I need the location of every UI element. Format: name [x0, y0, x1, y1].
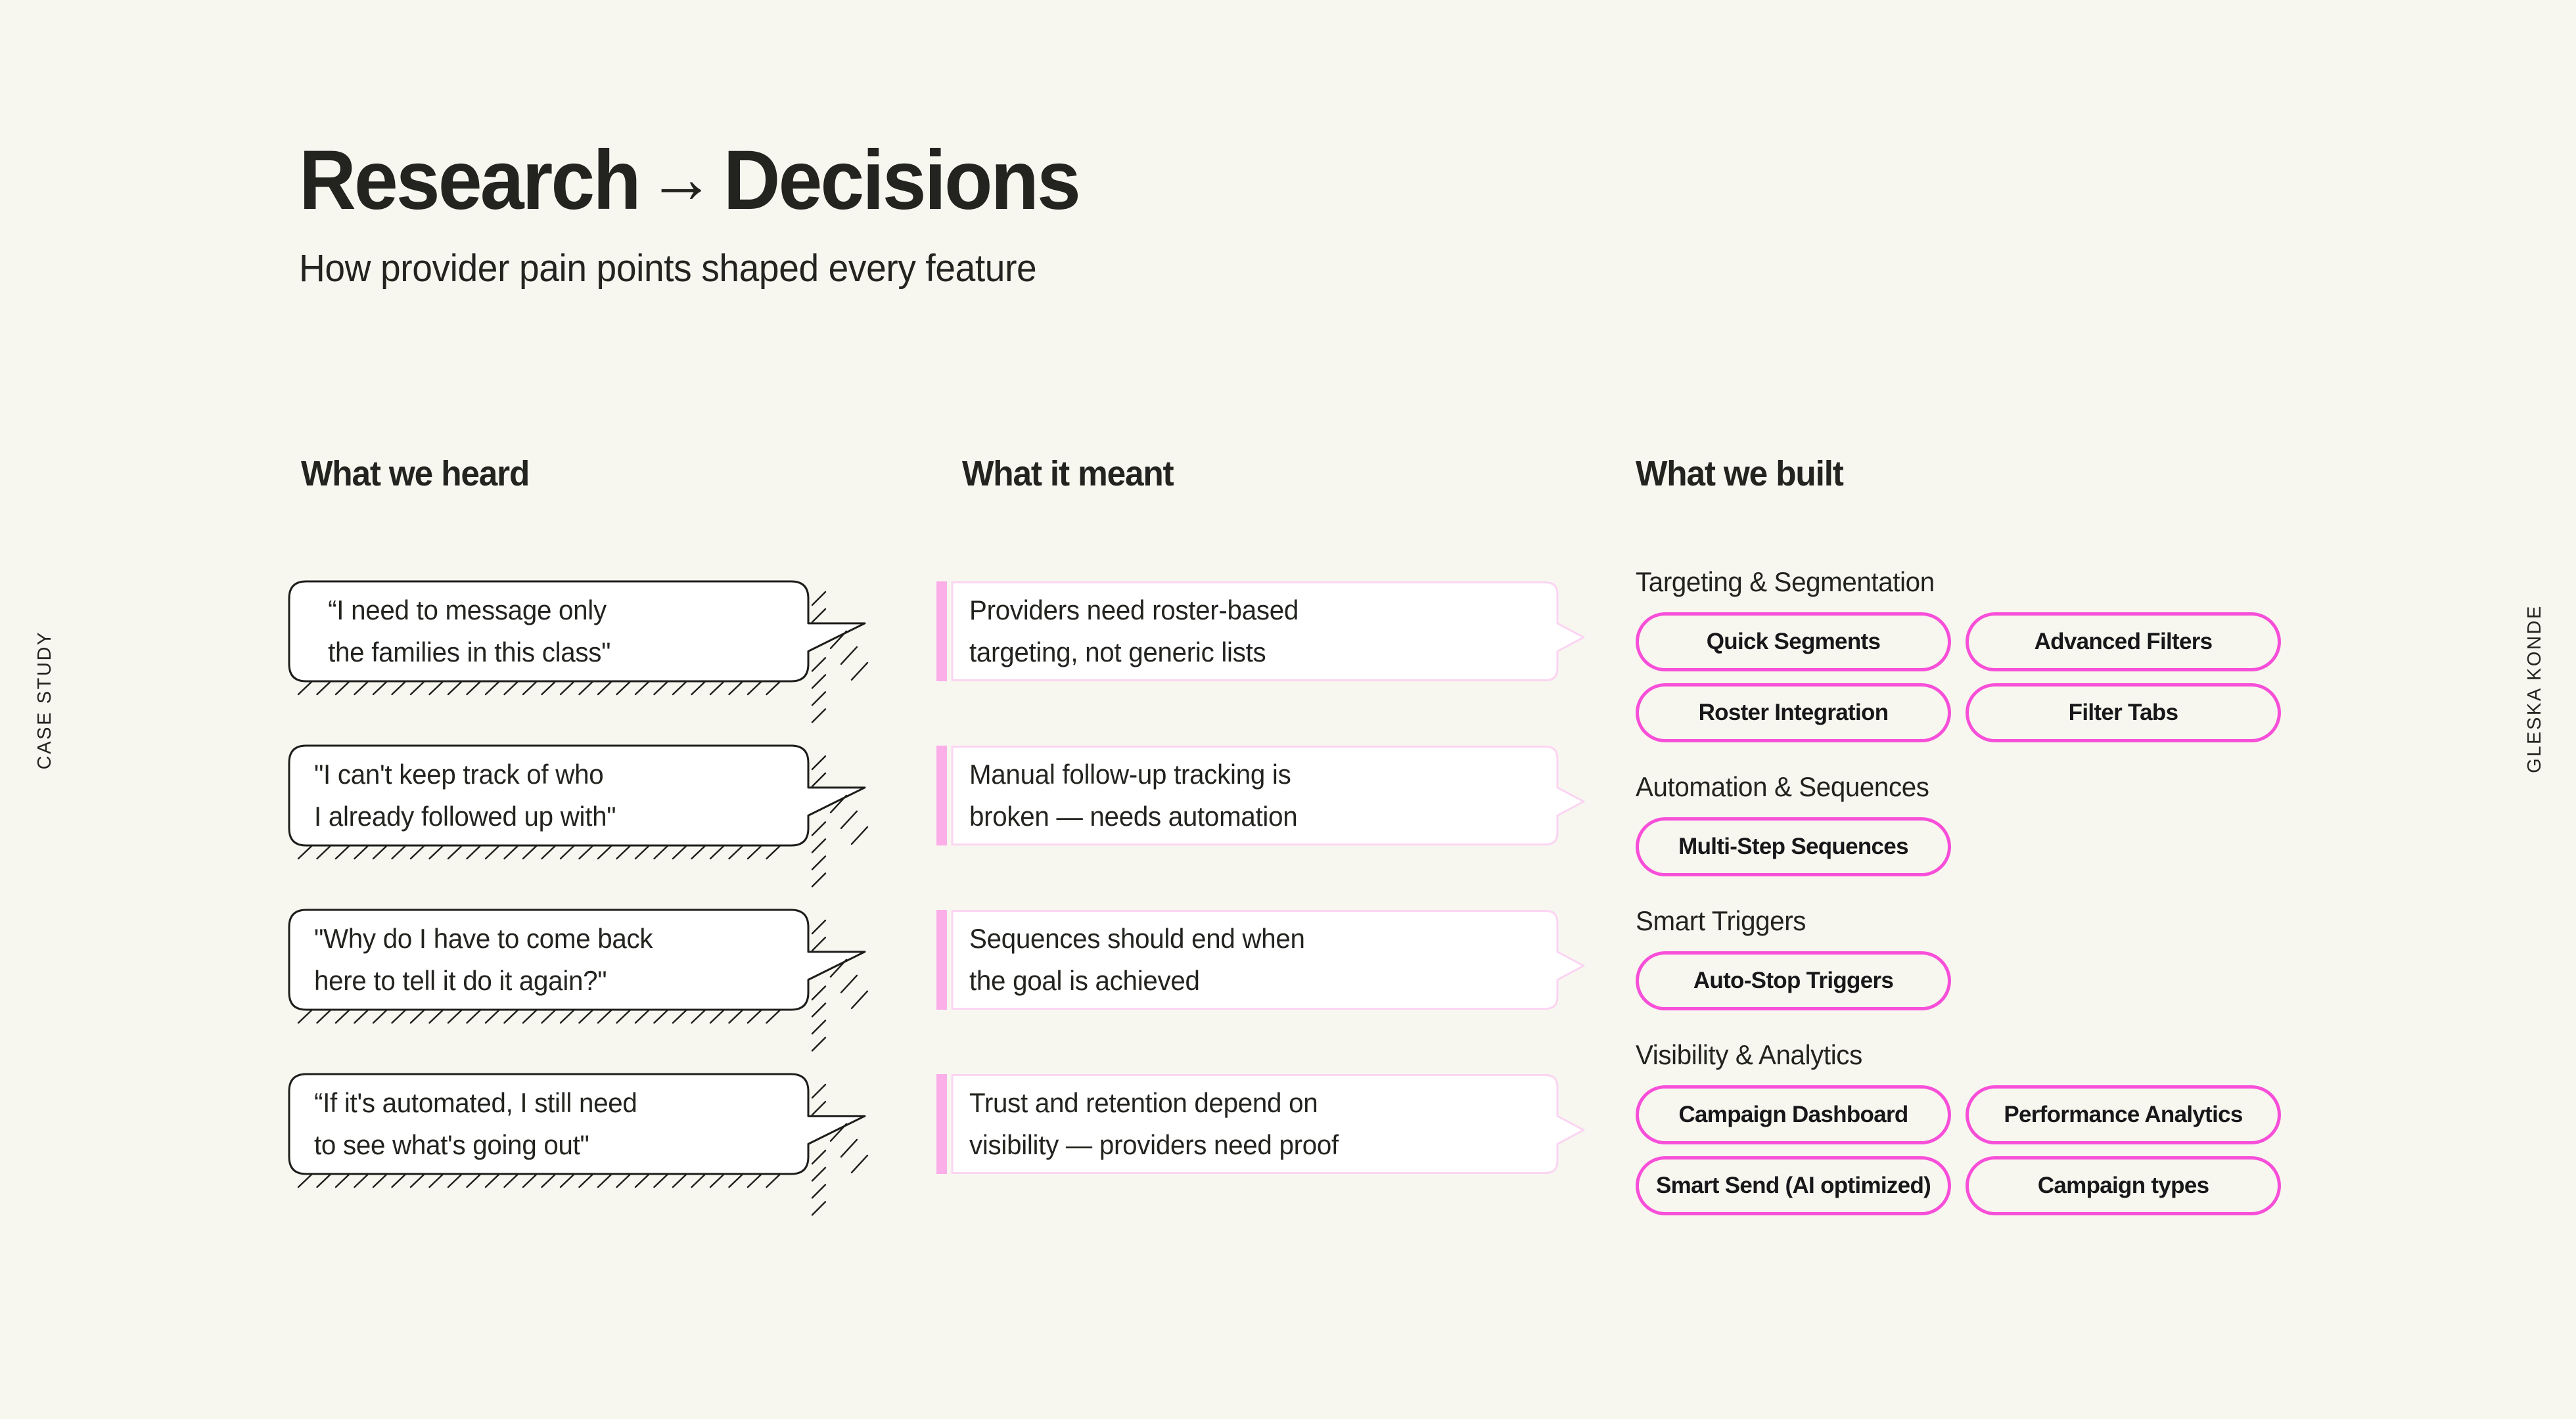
quote-bubble: “I need to message onlythe families in t… — [289, 581, 808, 681]
quote-line: “I need to message only — [314, 589, 768, 631]
quote-text: "Why do I have to come backhere to tell … — [314, 918, 768, 1002]
feature-pill[interactable]: Smart Send (AI optimized) — [1636, 1156, 1951, 1215]
quote-line: I already followed up with" — [314, 796, 768, 838]
brand-side-label: GLESKA KONDE — [2524, 604, 2546, 773]
feature-pill-label: Roster Integration — [1699, 700, 1889, 726]
feature-pill-row: Campaign DashboardPerformance AnalyticsS… — [1636, 1085, 2299, 1215]
feature-pill[interactable]: Campaign types — [1966, 1156, 2281, 1215]
quote-text: “I need to message onlythe families in t… — [314, 589, 768, 673]
insight-text: Trust and retention depend onvisibility … — [969, 1082, 1493, 1166]
feature-pill-label: Filter Tabs — [2069, 700, 2178, 726]
feature-group-title: Targeting & Segmentation — [1636, 566, 2323, 598]
quote-bubble: “If it's automated, I still needto see w… — [289, 1074, 808, 1174]
insight-line: Trust and retention depend on — [969, 1082, 1493, 1124]
feature-pill-label: Campaign Dashboard — [1678, 1102, 1908, 1128]
feature-pill-row: Quick SegmentsAdvanced FiltersRoster Int… — [1636, 612, 2299, 742]
insight-card: Sequences should end whenthe goal is ach… — [936, 910, 1557, 1010]
feature-group: Visibility & AnalyticsCampaign Dashboard… — [1636, 1039, 2352, 1215]
insight-line: targeting, not generic lists — [969, 631, 1493, 673]
feature-group: Automation & SequencesMulti-Step Sequenc… — [1636, 771, 2352, 876]
feature-group-title: Visibility & Analytics — [1636, 1039, 2323, 1071]
quote-text: "I can't keep track of whoI already foll… — [314, 754, 768, 838]
quote-line: “If it's automated, I still need — [314, 1082, 768, 1124]
quote-text: “If it's automated, I still needto see w… — [314, 1082, 768, 1166]
feature-group: Smart TriggersAuto-Stop Triggers — [1636, 905, 2352, 1010]
quote-line: "Why do I have to come back — [314, 918, 768, 960]
feature-pill[interactable]: Filter Tabs — [1966, 683, 2281, 742]
meant-column: Providers need roster-basedtargeting, no… — [936, 581, 1594, 1238]
card-accent-bar — [936, 581, 947, 681]
page-title-right: Decisions — [724, 133, 1079, 227]
insight-line: the goal is achieved — [969, 960, 1493, 1002]
built-column: Targeting & SegmentationQuick SegmentsAd… — [1636, 566, 2352, 1244]
card-accent-bar — [936, 746, 947, 845]
quote-line: "I can't keep track of who — [314, 754, 768, 796]
quote-line: the families in this class" — [314, 631, 768, 673]
insight-card: Trust and retention depend onvisibility … — [936, 1074, 1557, 1174]
quote-bubble: "Why do I have to come backhere to tell … — [289, 910, 808, 1010]
feature-group-title: Automation & Sequences — [1636, 771, 2323, 803]
feature-pill[interactable]: Multi-Step Sequences — [1636, 817, 1951, 876]
feature-pill[interactable]: Auto-Stop Triggers — [1636, 951, 1951, 1010]
page-title: Research→Decisions — [299, 138, 1079, 224]
case-study-side-label: CASE STUDY — [34, 631, 56, 769]
page-header: Research→Decisions How provider pain poi… — [299, 138, 1129, 290]
feature-pill[interactable]: Advanced Filters — [1966, 612, 2281, 671]
feature-pill[interactable]: Campaign Dashboard — [1636, 1085, 1951, 1144]
feature-pill[interactable]: Roster Integration — [1636, 683, 1951, 742]
page-title-left: Research — [299, 133, 639, 227]
feature-pill[interactable]: Performance Analytics — [1966, 1085, 2281, 1144]
insight-text: Providers need roster-basedtargeting, no… — [969, 589, 1493, 673]
page-subtitle: How provider pain points shaped every fe… — [299, 246, 1088, 290]
insight-line: Manual follow-up tracking is — [969, 754, 1493, 796]
heard-column: “I need to message onlythe families in t… — [289, 581, 894, 1238]
insight-text: Manual follow-up tracking isbroken — nee… — [969, 754, 1493, 838]
feature-group-title: Smart Triggers — [1636, 905, 2323, 937]
feature-pill-label: Advanced Filters — [2035, 629, 2213, 655]
insight-text: Sequences should end whenthe goal is ach… — [969, 918, 1493, 1002]
insight-card: Providers need roster-basedtargeting, no… — [936, 581, 1557, 681]
column-heading-meant: What it meant — [962, 453, 1173, 494]
feature-pill[interactable]: Quick Segments — [1636, 612, 1951, 671]
feature-pill-row: Multi-Step Sequences — [1636, 817, 2299, 876]
card-accent-bar — [936, 1074, 947, 1174]
feature-pill-label: Auto-Stop Triggers — [1693, 968, 1893, 994]
feature-pill-row: Auto-Stop Triggers — [1636, 951, 2299, 1010]
feature-pill-label: Performance Analytics — [2004, 1102, 2242, 1128]
right-arrow-icon: → — [639, 142, 724, 214]
quote-line: here to tell it do it again?" — [314, 960, 768, 1002]
quote-bubble: "I can't keep track of whoI already foll… — [289, 746, 808, 845]
insight-line: Providers need roster-based — [969, 589, 1493, 631]
insight-line: broken — needs automation — [969, 796, 1493, 838]
quote-line: to see what's going out" — [314, 1124, 768, 1166]
feature-group: Targeting & SegmentationQuick SegmentsAd… — [1636, 566, 2352, 742]
column-heading-built: What we built — [1636, 453, 1843, 494]
feature-pill-label: Smart Send (AI optimized) — [1656, 1173, 1931, 1199]
insight-line: Sequences should end when — [969, 918, 1493, 960]
feature-pill-label: Campaign types — [2038, 1173, 2209, 1199]
feature-pill-label: Multi-Step Sequences — [1678, 834, 1908, 860]
insight-card: Manual follow-up tracking isbroken — nee… — [936, 746, 1557, 845]
card-accent-bar — [936, 910, 947, 1010]
column-heading-heard: What we heard — [301, 453, 529, 494]
feature-pill-label: Quick Segments — [1707, 629, 1880, 655]
insight-line: visibility — providers need proof — [969, 1124, 1493, 1166]
